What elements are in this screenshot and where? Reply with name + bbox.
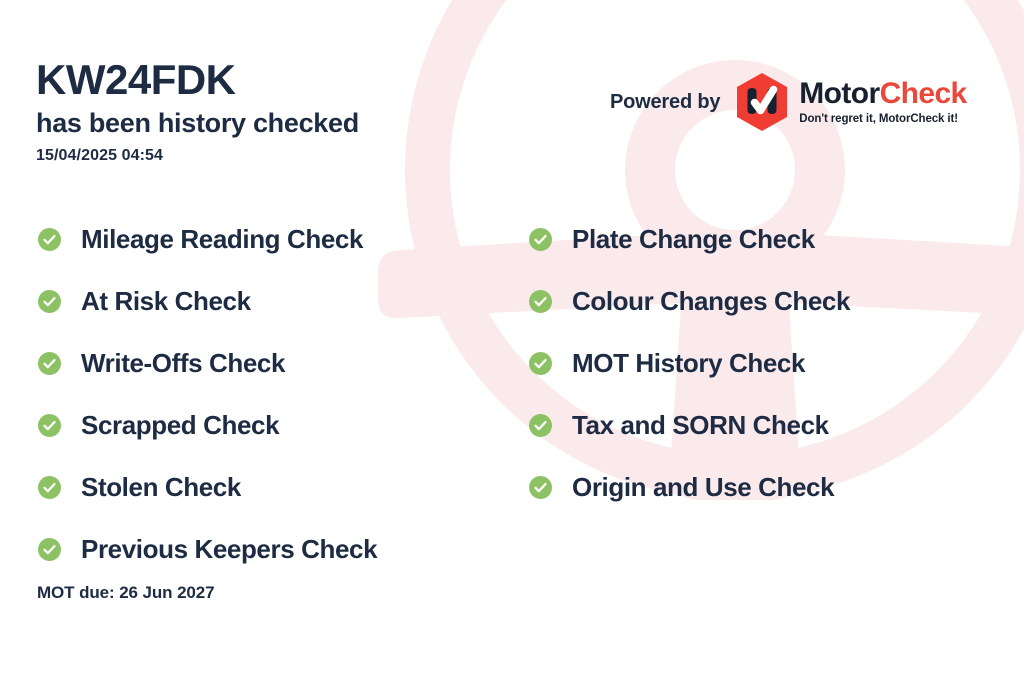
wordmark-text: MotorCheck [799, 79, 966, 109]
check-item: Write-Offs Check [38, 332, 377, 394]
green-check-circle-icon [38, 352, 61, 375]
motorcheck-hexagon-icon [734, 72, 790, 132]
powered-by-label: Powered by [610, 91, 720, 114]
check-item-label: At Risk Check [81, 286, 251, 317]
check-item-label: Origin and Use Check [572, 472, 834, 503]
wordmark-motor: Motor [799, 77, 879, 110]
green-check-circle-icon [38, 290, 61, 313]
check-timestamp: 15/04/2025 04:54 [36, 147, 359, 165]
checks-column-right: Plate Change Check Colour Changes Check … [529, 208, 850, 518]
powered-by-block: Powered by MotorCheck Don't regret it, M… [610, 72, 967, 132]
check-item-label: Tax and SORN Check [572, 410, 829, 441]
page-title: has been history checked [36, 106, 359, 141]
green-check-circle-icon [529, 228, 552, 251]
check-item-label: Write-Offs Check [81, 348, 285, 379]
check-item: Scrapped Check [38, 394, 377, 456]
check-item-label: Scrapped Check [81, 410, 279, 441]
check-item-label: Plate Change Check [572, 224, 815, 255]
green-check-circle-icon [529, 352, 552, 375]
check-item-label: Colour Changes Check [572, 286, 850, 317]
check-item: Previous Keepers Check [38, 518, 377, 580]
green-check-circle-icon [529, 476, 552, 499]
motorcheck-brand-lockup[interactable]: MotorCheck Don't regret it, MotorCheck i… [734, 72, 966, 132]
green-check-circle-icon [38, 228, 61, 251]
check-item: Stolen Check [38, 456, 377, 518]
brand-tagline: Don't regret it, MotorCheck it! [799, 113, 966, 125]
registration-plate: KW24FDK [36, 58, 359, 102]
check-item-label: Mileage Reading Check [81, 224, 363, 255]
wordmark-check: Check [880, 77, 967, 110]
check-item: MOT History Check [529, 332, 850, 394]
card-header: KW24FDK has been history checked 15/04/2… [36, 58, 359, 165]
checks-column-left: Mileage Reading Check At Risk Check Writ… [38, 208, 377, 580]
mot-due-text: MOT due: 26 Jun 2027 [37, 583, 215, 603]
green-check-circle-icon [38, 538, 61, 561]
check-item: Mileage Reading Check [38, 208, 377, 270]
check-item: At Risk Check [38, 270, 377, 332]
green-check-circle-icon [38, 476, 61, 499]
motorcheck-wordmark: MotorCheck Don't regret it, MotorCheck i… [799, 79, 966, 125]
check-item-label: MOT History Check [572, 348, 805, 379]
green-check-circle-icon [529, 414, 552, 437]
check-item-label: Stolen Check [81, 472, 241, 503]
check-item: Colour Changes Check [529, 270, 850, 332]
history-check-card: KW24FDK has been history checked 15/04/2… [0, 0, 1024, 683]
green-check-circle-icon [38, 414, 61, 437]
check-item: Tax and SORN Check [529, 394, 850, 456]
check-item: Origin and Use Check [529, 456, 850, 518]
check-item: Plate Change Check [529, 208, 850, 270]
green-check-circle-icon [529, 290, 552, 313]
check-item-label: Previous Keepers Check [81, 534, 377, 565]
